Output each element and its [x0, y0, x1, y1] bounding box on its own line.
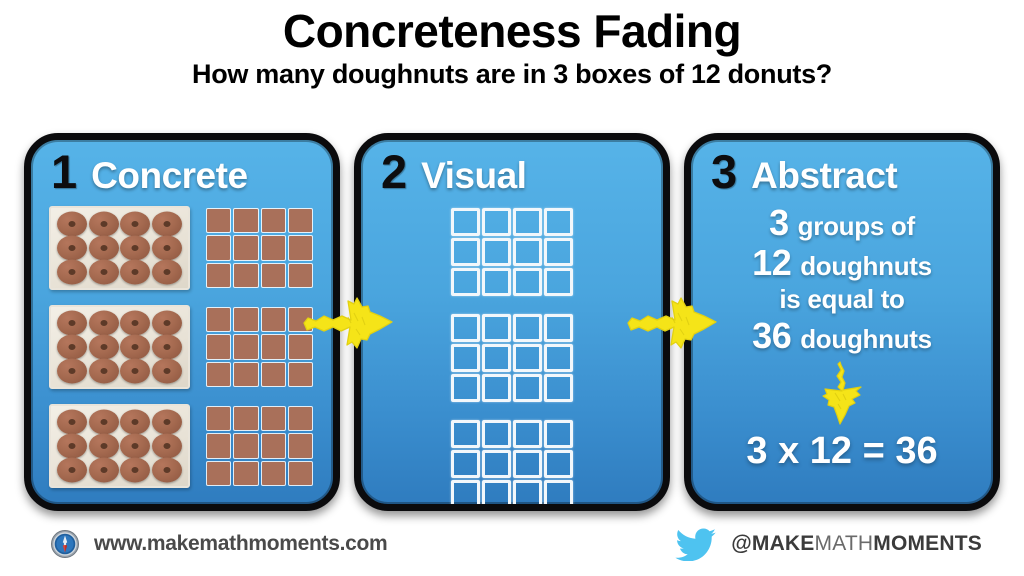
donut-icon [56, 260, 88, 284]
panel-concrete[interactable]: 1 Concrete [24, 133, 340, 511]
array-cell [234, 264, 257, 287]
header: Concreteness Fading How many doughnuts a… [0, 0, 1024, 89]
array-cell [544, 314, 573, 342]
donut-icon [151, 335, 183, 359]
array-cell [544, 238, 573, 266]
donut-icon [120, 236, 152, 260]
abstract-content: 3 groups of 12 doughnuts is equal to 36 … [691, 202, 993, 473]
array-cell [513, 314, 542, 342]
array-cell [451, 480, 480, 508]
social-handle[interactable]: @MAKEMATHMOMENTS [731, 532, 982, 556]
footer: www.makemathmoments.com @MAKEMATHMOMENTS [0, 520, 1024, 568]
donut-icon [120, 410, 152, 434]
array-cell [234, 236, 257, 259]
array-cell [451, 238, 480, 266]
social-group[interactable]: @MAKEMATHMOMENTS [675, 527, 982, 561]
array-cell [207, 462, 230, 485]
array-cell [451, 268, 480, 296]
array-cell [234, 308, 257, 331]
website-group[interactable]: www.makemathmoments.com [50, 529, 387, 559]
array-cell [544, 450, 573, 478]
array-cell [451, 314, 480, 342]
donut-icon [120, 458, 152, 482]
statement-line-4: 36 doughnuts [691, 317, 993, 355]
array-cell [234, 363, 257, 386]
array-cell [234, 462, 257, 485]
page-subtitle: How many doughnuts are in 3 boxes of 12 … [0, 60, 1024, 90]
donut-icon [151, 212, 183, 236]
array-cell [262, 209, 285, 232]
array-cell [513, 268, 542, 296]
brown-array [204, 404, 315, 488]
panel-abstract-number: 3 [711, 148, 737, 195]
donut-icon [151, 434, 183, 458]
array-cell [513, 480, 542, 508]
array-cell [207, 335, 230, 358]
brown-array [204, 305, 315, 389]
donut-icon [120, 212, 152, 236]
donut-icon [56, 335, 88, 359]
array-cell [207, 308, 230, 331]
visual-array [451, 314, 573, 402]
donut-icon [151, 458, 183, 482]
array-cell [207, 434, 230, 457]
total-count: 36 [752, 317, 791, 355]
donut-icon [88, 434, 120, 458]
handle-make: MAKE [752, 532, 815, 555]
array-cell [451, 344, 480, 372]
array-cell [289, 363, 312, 386]
donut-icon [120, 335, 152, 359]
array-cell [207, 209, 230, 232]
donut-icon [120, 434, 152, 458]
donut-icon [88, 458, 120, 482]
array-cell [544, 268, 573, 296]
brown-array-column [204, 206, 315, 488]
array-cell [482, 480, 511, 508]
panel-visual-number: 2 [381, 148, 407, 195]
panel-concrete-header: 1 Concrete [31, 140, 333, 202]
handle-moments: MOMENTS [873, 532, 982, 555]
donut-icon [88, 359, 120, 383]
array-cell [513, 374, 542, 402]
array-cell [544, 208, 573, 236]
donut-icon [88, 260, 120, 284]
array-cell [482, 314, 511, 342]
statement-line-1: 3 groups of [691, 204, 993, 242]
array-cell [289, 264, 312, 287]
donut-box [49, 404, 190, 488]
handle-prefix: @ [731, 532, 752, 555]
array-cell [544, 344, 573, 372]
compass-icon [50, 529, 80, 559]
panel-abstract-label: Abstract [751, 157, 897, 194]
panel-concrete-label: Concrete [91, 157, 247, 194]
visual-array [451, 420, 573, 508]
panel-concrete-number: 1 [51, 148, 77, 195]
donut-icon [151, 311, 183, 335]
array-cell [262, 407, 285, 430]
donut-box-column [49, 206, 190, 488]
array-cell [289, 236, 312, 259]
array-cell [207, 407, 230, 430]
donut-icon [88, 410, 120, 434]
donut-icon [120, 311, 152, 335]
array-cell [207, 264, 230, 287]
array-cell [482, 374, 511, 402]
array-cell [544, 480, 573, 508]
panel-abstract-header: 3 Abstract [691, 140, 993, 202]
donut-icon [151, 410, 183, 434]
array-cell [289, 308, 312, 331]
array-cell [289, 407, 312, 430]
array-cell [207, 236, 230, 259]
array-cell [262, 462, 285, 485]
donut-icon [56, 236, 88, 260]
donut-icon [88, 335, 120, 359]
down-arrow-icon [816, 360, 868, 426]
donut-icon [151, 260, 183, 284]
donut-icon [151, 359, 183, 383]
statement-line-3: is equal to [691, 284, 993, 315]
array-cell [482, 208, 511, 236]
brown-array [204, 206, 315, 290]
array-cell [482, 420, 511, 448]
statement-line-2: 12 doughnuts [691, 244, 993, 282]
array-cell [234, 407, 257, 430]
handle-math: MATH [815, 532, 874, 555]
total-doughnuts-label: doughnuts [800, 326, 932, 353]
array-cell [207, 363, 230, 386]
array-cell [262, 363, 285, 386]
visual-content [361, 202, 663, 508]
per-group-count: 12 [752, 244, 791, 282]
array-cell [234, 209, 257, 232]
groups-count: 3 [769, 204, 789, 242]
array-cell [262, 335, 285, 358]
donut-box [49, 305, 190, 389]
abstract-down-arrow-wrap [691, 360, 993, 426]
page-title: Concreteness Fading [0, 6, 1024, 58]
array-cell [544, 374, 573, 402]
array-cell [513, 450, 542, 478]
groups-of-label: groups of [798, 213, 915, 240]
panels-row: 1 Concrete [24, 133, 1000, 511]
abstract-equation: 3 x 12 = 36 [691, 430, 993, 473]
array-cell [289, 335, 312, 358]
panel-visual-label: Visual [421, 157, 526, 194]
array-cell [262, 434, 285, 457]
array-cell [262, 264, 285, 287]
panel-abstract[interactable]: 3 Abstract 3 groups of 12 doughnuts is e… [684, 133, 1000, 511]
array-cell [451, 450, 480, 478]
donut-icon [56, 434, 88, 458]
donut-icon [56, 311, 88, 335]
array-cell [262, 308, 285, 331]
array-cell [234, 434, 257, 457]
donut-icon [56, 410, 88, 434]
array-cell [289, 462, 312, 485]
array-cell [544, 420, 573, 448]
donut-icon [151, 236, 183, 260]
donut-icon [56, 359, 88, 383]
array-cell [289, 434, 312, 457]
visual-array [451, 208, 573, 296]
donut-icon [120, 359, 152, 383]
array-cell [482, 344, 511, 372]
twitter-bird-icon [675, 527, 717, 561]
array-cell [513, 208, 542, 236]
array-cell [513, 344, 542, 372]
doughnuts-label: doughnuts [800, 253, 932, 280]
array-cell [482, 238, 511, 266]
concrete-content [31, 202, 333, 488]
donut-icon [56, 458, 88, 482]
donut-icon [88, 236, 120, 260]
array-cell [513, 420, 542, 448]
website-url[interactable]: www.makemathmoments.com [94, 532, 387, 556]
donut-icon [88, 212, 120, 236]
donut-icon [120, 260, 152, 284]
array-cell [482, 450, 511, 478]
array-cell [513, 238, 542, 266]
array-cell [451, 374, 480, 402]
array-cell [451, 420, 480, 448]
donut-icon [56, 212, 88, 236]
array-cell [482, 268, 511, 296]
array-cell [234, 335, 257, 358]
array-cell [289, 209, 312, 232]
donut-icon [88, 311, 120, 335]
array-cell [262, 236, 285, 259]
panel-visual-header: 2 Visual [361, 140, 663, 202]
array-cell [451, 208, 480, 236]
panel-visual[interactable]: 2 Visual [354, 133, 670, 511]
donut-box [49, 206, 190, 290]
